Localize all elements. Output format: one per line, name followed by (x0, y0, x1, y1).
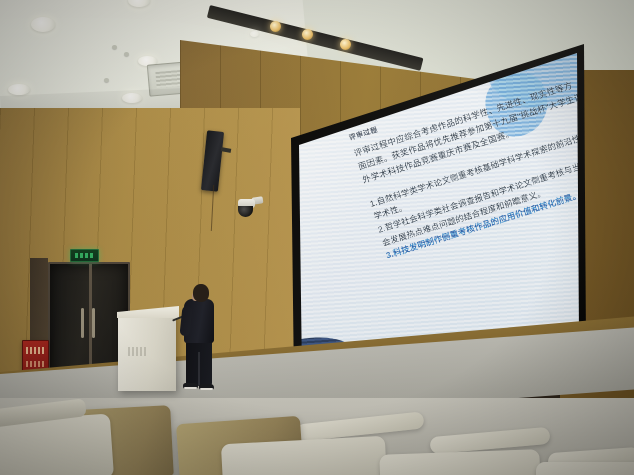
podium-emblem (128, 347, 146, 356)
seat-cushion[interactable] (536, 462, 634, 475)
downlight-icon (31, 17, 55, 32)
exit-sign-icon (70, 249, 99, 262)
presenter-shoe (199, 384, 214, 390)
downlight-icon (8, 84, 30, 95)
podium[interactable] (118, 313, 176, 391)
ceiling-sensor-icon (112, 45, 117, 49)
presenter-leg-gap (198, 352, 200, 386)
door-handle[interactable] (92, 308, 95, 338)
downlight-icon (250, 31, 259, 37)
ceiling-sensor-icon (104, 78, 109, 82)
auditorium-scene: 评审过程 评审过程中应综合考虑作品的科学性、先进性、现实性等方面因素。获奖作品将… (0, 0, 634, 475)
track-lamp-icon (302, 29, 313, 40)
presenter-shoe (183, 383, 198, 389)
seat-cushion[interactable] (379, 449, 540, 475)
track-lamp-icon (270, 21, 281, 32)
ceiling-sensor-icon (124, 52, 129, 56)
door-handle[interactable] (81, 308, 84, 338)
presenter-head (193, 284, 209, 302)
